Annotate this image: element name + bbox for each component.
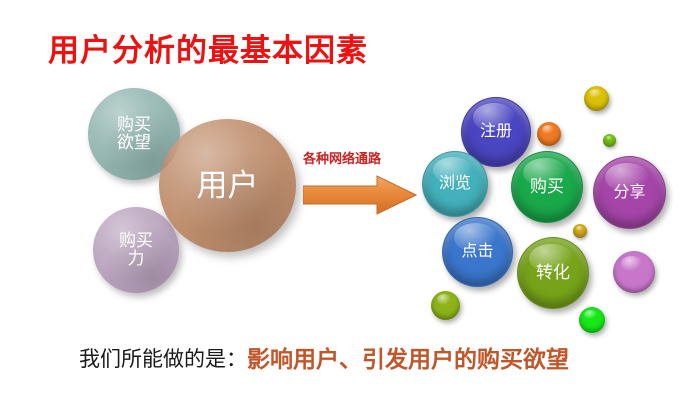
decoration-bubble-yellow (584, 86, 609, 111)
bubble-buy[interactable]: 购买 (511, 151, 583, 223)
decoration-bubble-gold (573, 224, 587, 238)
decoration-bubble-green (579, 307, 605, 333)
caption-accent-text: 影响用户、引发用户的购买欲望 (247, 346, 569, 372)
decoration-bubble-orange (537, 122, 561, 146)
slide-canvas: 用户分析的最基本因素 购买 欲望 购买 力 用户 各种网络通路 注册 浏览 (0, 0, 699, 400)
bubble-label: 用户 (197, 169, 259, 202)
bubble-label-line1: 购买 (119, 231, 153, 250)
bubble-label-line2: 欲望 (117, 133, 151, 152)
bubble-label: 购买 (530, 178, 564, 196)
page-title: 用户分析的最基本因素 (48, 34, 368, 68)
bubble-label-line2: 力 (128, 249, 145, 268)
bubble-label-line1: 购买 (117, 115, 151, 134)
bubble-purchase-power[interactable]: 购买 力 (93, 207, 179, 293)
bubble-convert[interactable]: 转化 (517, 237, 589, 309)
bubble-label: 点击 (461, 243, 493, 260)
decoration-bubble-lime (603, 134, 616, 147)
caption: 我们所能做的是：影响用户、引发用户的购买欲望 (79, 348, 569, 371)
bubble-label: 分享 (613, 184, 645, 201)
caption-plain-text: 我们所能做的是： (79, 348, 247, 371)
decoration-bubble-olive (431, 291, 460, 320)
bubble-browse[interactable]: 浏览 (422, 151, 488, 217)
decoration-bubble-orchid (613, 251, 655, 293)
bubble-label: 浏览 (439, 175, 471, 192)
arrow-right-icon (303, 175, 417, 215)
bubble-share[interactable]: 分享 (593, 156, 666, 229)
bubble-label: 购买 欲望 (117, 116, 151, 153)
bubble-click[interactable]: 点击 (442, 217, 513, 287)
bubble-user[interactable]: 用户 (159, 119, 296, 252)
bubble-label: 购买 力 (119, 232, 153, 269)
bubble-label: 注册 (480, 123, 512, 140)
bubble-label: 转化 (536, 264, 570, 282)
connector-label: 各种网络通路 (303, 148, 381, 167)
